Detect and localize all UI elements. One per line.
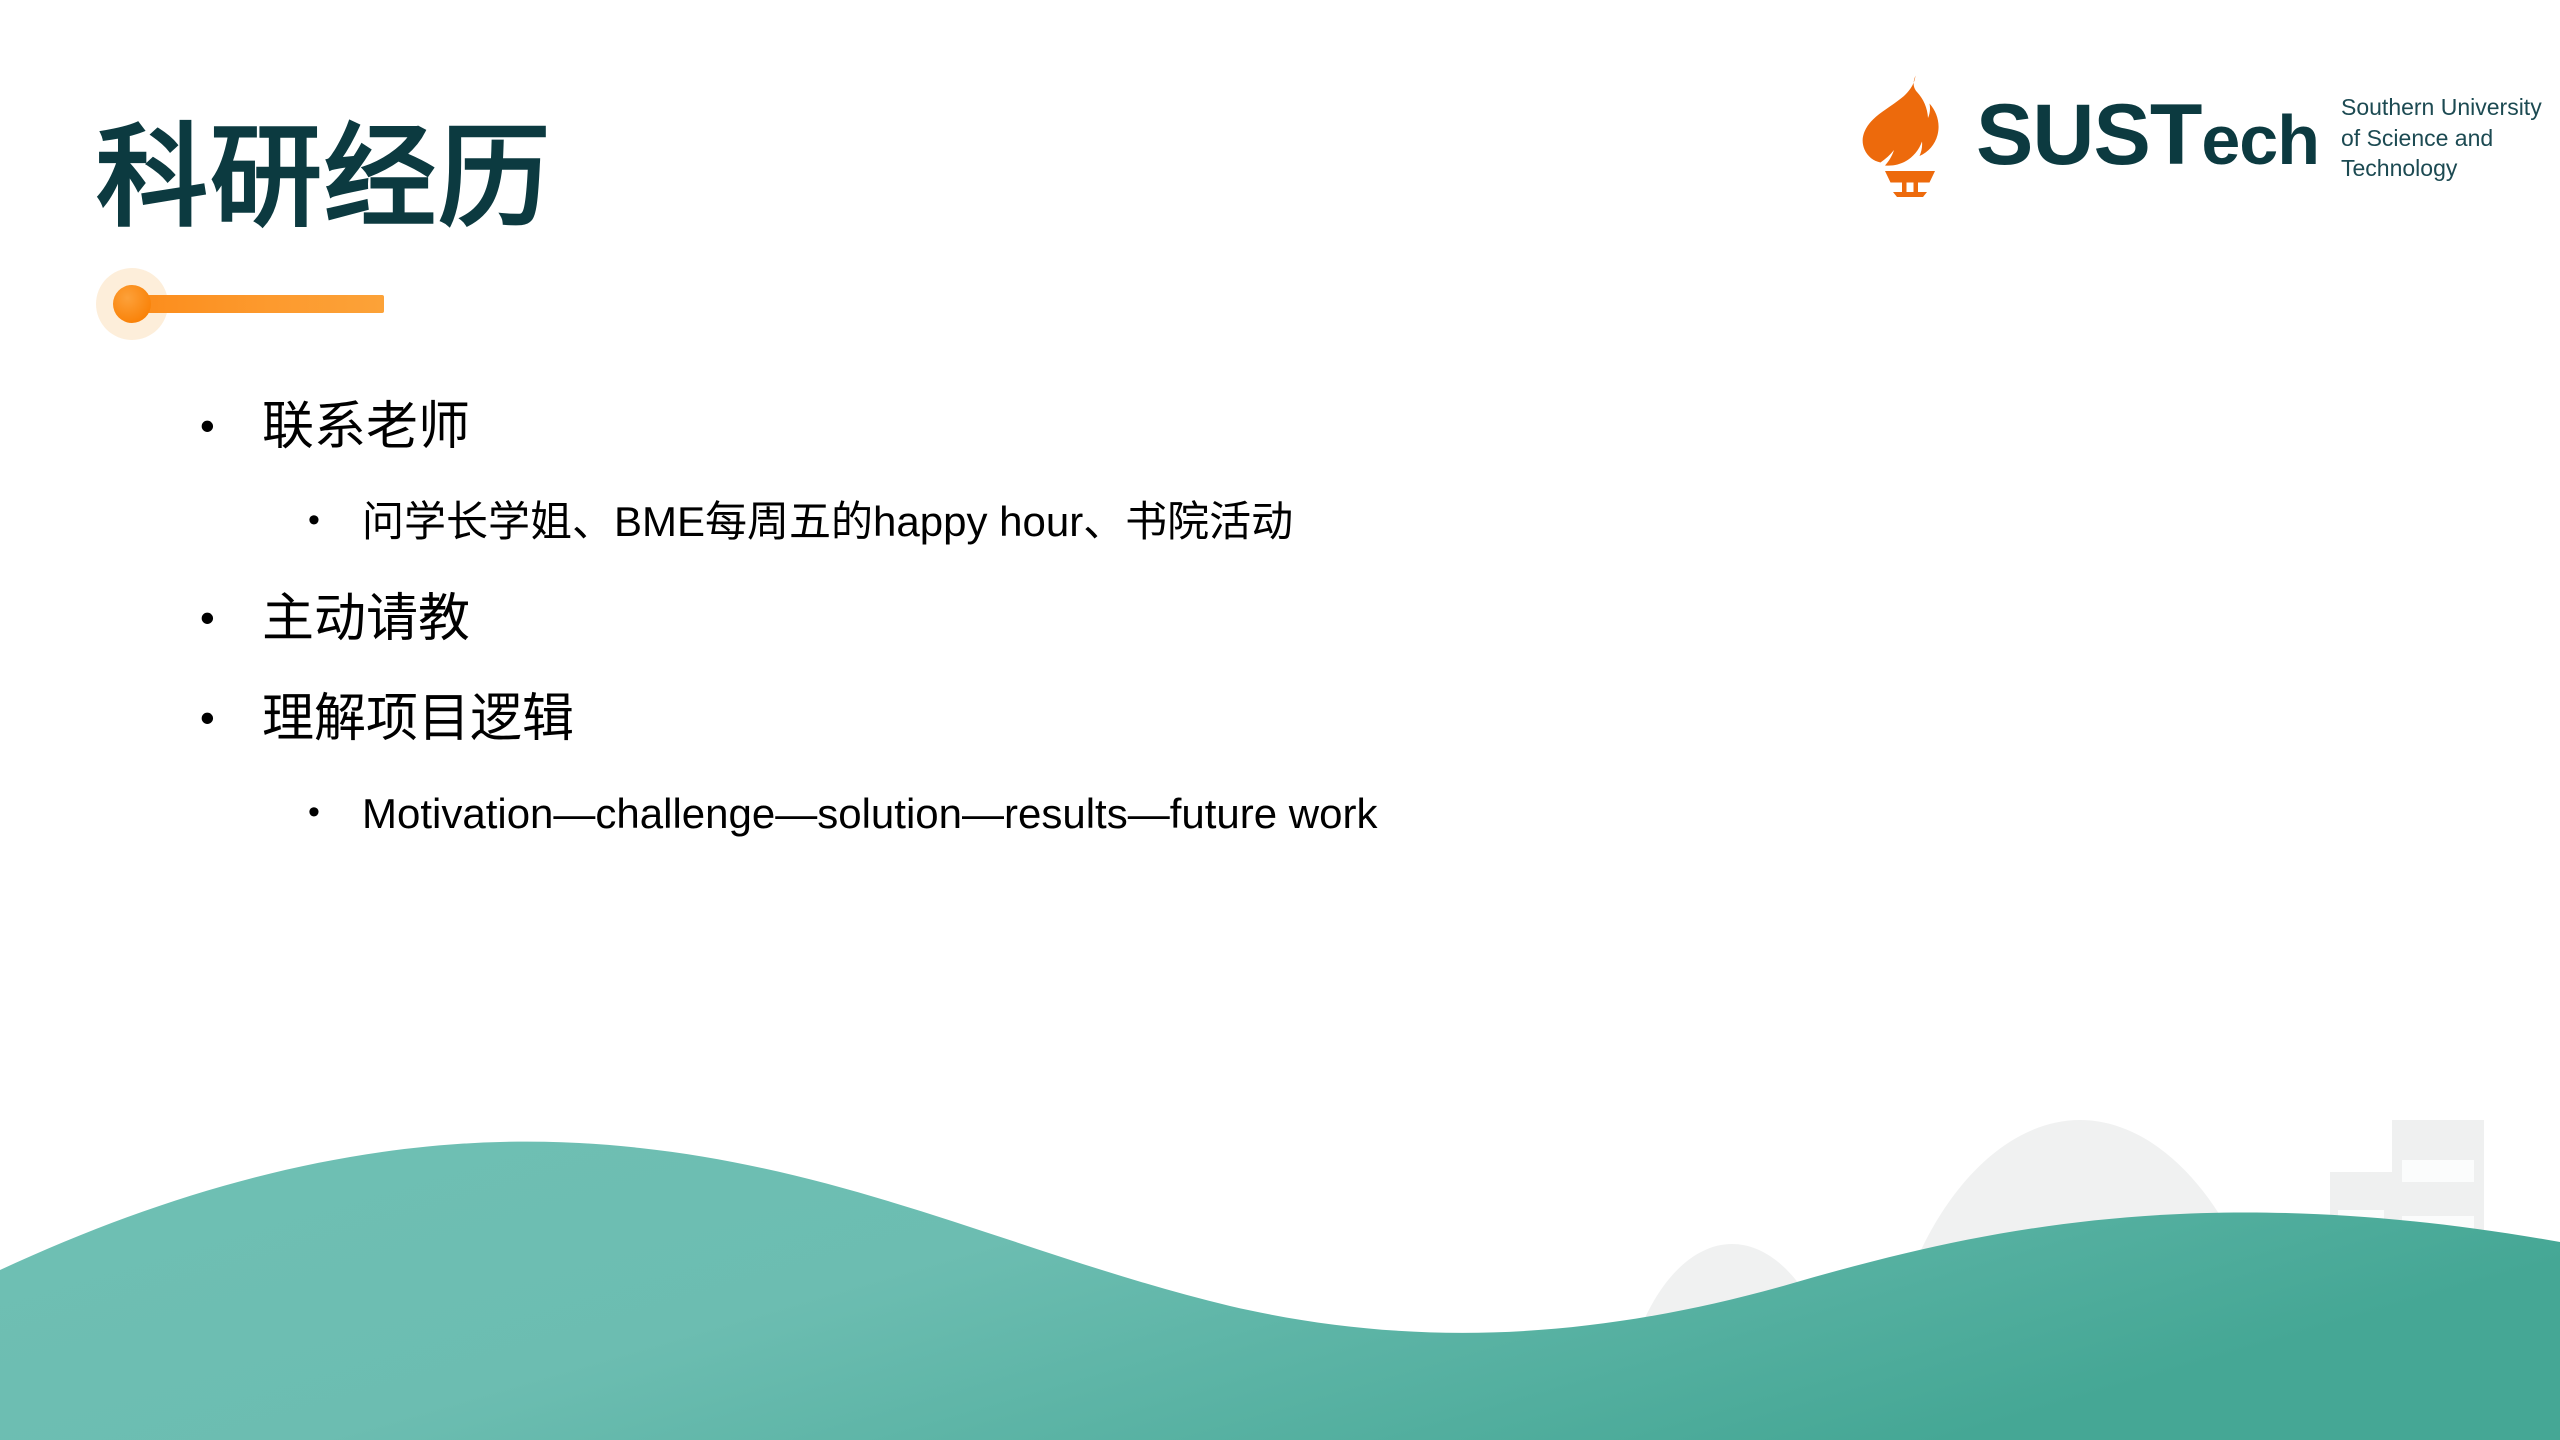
title-accent-decoration [96,268,396,340]
torch-icon [1858,73,1962,197]
logo-wordmark: SUSTech [1976,92,2319,178]
bullet-text: 联系老师 [262,398,470,458]
logo-wordmark-rest: ech [2201,101,2319,179]
logo-tagline-line-1: Southern University [2341,92,2542,123]
bullet-marker-icon: • [308,790,362,834]
bottom-wave-decoration [0,1020,2560,1440]
teal-wave [0,1142,2560,1440]
bullet-text: 主动请教 [262,590,470,650]
bullet-item-1: • 联系老师 [200,398,2360,498]
logo-tagline: Southern University of Science and Techn… [2341,92,2542,184]
accent-bar [132,295,384,313]
content-bullet-list: • 联系老师 • 问学长学姐、BME每周五的happy hour、书院活动 • … [200,398,2360,882]
bullet-item-4: • 理解项目逻辑 [200,690,2360,790]
bullet-marker-icon: • [308,498,362,542]
logo-tagline-line-2: of Science and [2341,123,2542,154]
bullet-text: Motivation—challenge—solution—results—fu… [362,790,1377,838]
building-silhouettes [2272,1120,2484,1440]
page-title: 科研经历 [96,122,552,234]
accent-dot [113,285,151,323]
bullet-text: 理解项目逻辑 [262,690,574,750]
bullet-text: 问学长学姐、BME每周五的happy hour、书院活动 [362,498,1293,546]
bullet-marker-icon: • [200,590,262,647]
sustech-logo: SUSTech Southern University of Science a… [1858,72,2542,198]
bullet-item-3: • 主动请教 [200,590,2360,690]
bullet-marker-icon: • [200,398,262,455]
slide: 科研经历 SUSTech Southern University of Scie… [0,0,2560,1440]
mountain-silhouettes [100,1120,2280,1440]
logo-tagline-line-3: Technology [2341,153,2542,184]
logo-wordmark-main: SUST [1976,87,2201,183]
bullet-item-2: • 问学长学姐、BME每周五的happy hour、书院活动 [200,498,2360,590]
bullet-item-5: • Motivation—challenge—solution—results—… [200,790,2360,882]
bullet-marker-icon: • [200,690,262,747]
